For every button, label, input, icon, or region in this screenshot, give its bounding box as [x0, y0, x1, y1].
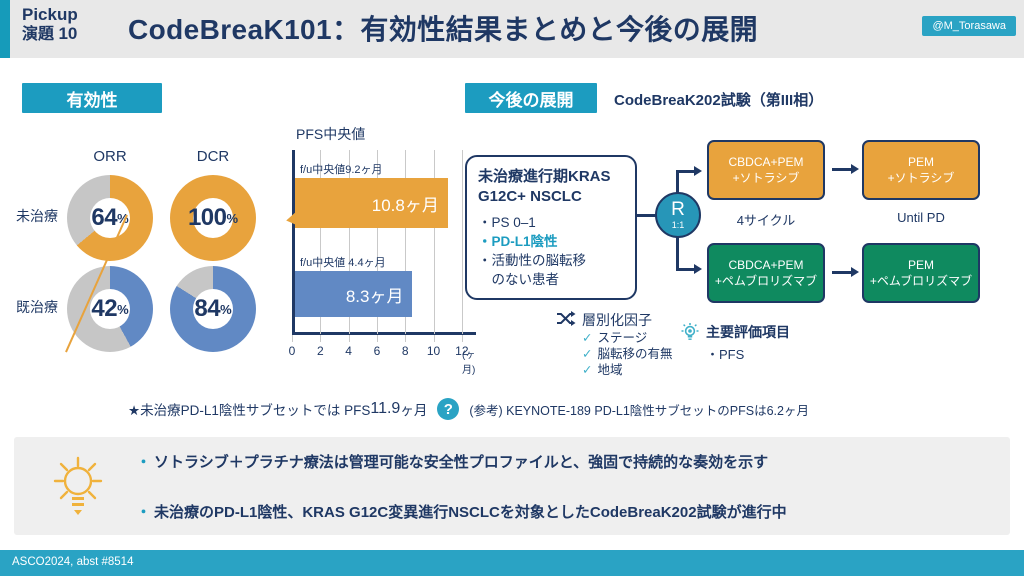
connector-rand-down-h — [676, 268, 694, 271]
pickup-label: Pickup 演題 10 — [22, 5, 114, 44]
tick-mark — [377, 335, 378, 342]
tick-label: 10 — [424, 344, 444, 358]
lightbulb-icon-large — [49, 454, 107, 525]
criteria-item: のない患者 — [478, 270, 626, 289]
check-icon: ✓ — [582, 347, 592, 361]
treatment-line2: +ソトラシブ — [888, 170, 955, 186]
connector-arrow-arm-a1 — [694, 166, 702, 176]
connector-arrow-arm-b2 — [851, 267, 859, 277]
donut-column-header-dcr: DCR — [173, 148, 253, 165]
treatment-box-arm-b2: PEM +ペムブロリズマブ — [862, 243, 980, 303]
section-badge-efficacy: 有効性 — [22, 83, 162, 113]
treatment-line2: +ペムブロリズマブ — [870, 273, 972, 289]
donut-chart-dcr-naive: 100% — [170, 175, 256, 261]
tick-mark — [320, 335, 321, 342]
donut-value-number: 64 — [91, 204, 117, 232]
tick-mark — [349, 335, 350, 342]
conclusion-bullets: ・ソトラシブ＋プラチナ療法は管理可能な安全性プロファイルと、強固で持続的な奏効を… — [136, 453, 787, 522]
donut-value-unit: % — [117, 302, 129, 317]
criteria-title-line2: G12C+ NSCLC — [478, 187, 626, 207]
stratification-item: ✓地域 — [582, 362, 673, 378]
randomization-letter: R — [671, 200, 685, 219]
conclusion-box: ・ソトラシブ＋プラチナ療法は管理可能な安全性プロファイルと、強固で持続的な奏効を… — [14, 437, 1010, 535]
tick-label: 2 — [310, 344, 330, 358]
donut-value-number: 42 — [91, 295, 117, 323]
phase-label-cycles: 4サイクル — [707, 210, 825, 229]
bullet-dot: ・ — [136, 454, 151, 471]
randomization-ratio: 1:1 — [672, 220, 685, 230]
donut-value-unit: % — [220, 302, 232, 317]
pickup-line1: Pickup — [22, 5, 114, 24]
footnote-reference: (参考) KEYNOTE-189 PD-L1陰性サブセットのPFSは6.2ヶ月 — [469, 400, 809, 419]
chart-x-unit-label: (ヶ月) — [462, 346, 475, 376]
tick-mark — [405, 335, 406, 342]
tick-mark — [462, 335, 463, 342]
donut-value: 100% — [170, 175, 256, 261]
connector-rand-up-v — [676, 170, 679, 194]
footer-text: ASCO2024, abst #8514 — [12, 556, 133, 568]
connector-criteria-to-rand — [637, 214, 657, 217]
donut-value-number: 100 — [188, 204, 227, 232]
shuffle-icon — [556, 311, 576, 332]
treatment-line1: PEM — [908, 154, 934, 170]
tick-label: 4 — [339, 344, 359, 358]
treatment-box-arm-b1: CBDCA+PEM +ペムブロリズマブ — [707, 243, 825, 303]
criteria-title: 未治療進行期KRAS G12C+ NSCLC — [478, 167, 626, 206]
tick-mark — [434, 335, 435, 342]
page-title: CodeBreaK101：有効性結果まとめと今後の展開 — [128, 8, 758, 48]
connector-arrow-arm-b1 — [694, 264, 702, 274]
primary-endpoint-block: 主要評価項目 ・PFS — [680, 322, 790, 363]
footnote-star-text: ★未治療PD-L1陰性サブセットでは PFS — [128, 399, 370, 419]
pfs-bar-chart: f/u中央値9.2ヶ月 10.8ヶ月 f/u中央値 4.4ヶ月 8.3ヶ月 02… — [292, 150, 472, 346]
tick-label: 8 — [395, 344, 415, 358]
treatment-line1: CBDCA+PEM — [728, 154, 803, 170]
check-icon: ✓ — [582, 363, 592, 377]
criteria-list: ・PS 0–1 ・PD-L1陰性 ・活動性の脳転移 のない患者 — [478, 213, 626, 290]
endpoint-title: 主要評価項目 — [706, 322, 790, 342]
pfs-bar-naive: 10.8ヶ月 — [295, 178, 448, 228]
stratification-item: ✓ステージ — [582, 330, 673, 346]
donut-value-unit: % — [226, 211, 238, 226]
section-badge-future: 今後の展開 — [465, 83, 597, 113]
header-accent-bar — [0, 0, 10, 58]
trial-name-label: CodeBreaK202試験（第III相） — [614, 89, 823, 110]
conclusion-line-2: ・未治療のPD-L1陰性、KRAS G12C変異進行NSCLCを対象としたCod… — [136, 503, 787, 523]
connector-rand-down-v — [676, 236, 679, 271]
gridline — [462, 150, 463, 334]
pfs-annotation-treated: f/u中央値 4.4ヶ月 — [300, 254, 386, 270]
randomization-node: R 1:1 — [655, 192, 701, 238]
connector-arrow-arm-a2 — [851, 164, 859, 174]
criteria-title-line1: 未治療進行期KRAS — [478, 167, 626, 187]
endpoint-item: ・PFS — [706, 344, 790, 363]
pickup-number: 10 — [58, 24, 77, 43]
donut-column-header-orr: ORR — [70, 148, 150, 165]
tick-label: 6 — [367, 344, 387, 358]
question-icon: ? — [437, 398, 459, 420]
slide-header: Pickup 演題 10 CodeBreaK101：有効性結果まとめと今後の展開… — [0, 0, 1024, 58]
footnote-star-value: 11.9 — [370, 400, 400, 418]
conclusion-line-1: ・ソトラシブ＋プラチナ療法は管理可能な安全性プロファイルと、強固で持続的な奏効を… — [136, 453, 787, 473]
stratification-title: 層別化因子 — [582, 310, 673, 330]
treatment-line2: +ソトラシブ — [733, 170, 800, 186]
donut-value-number: 84 — [194, 295, 220, 323]
donut-value: 84% — [170, 266, 256, 352]
eligibility-criteria-box: 未治療進行期KRAS G12C+ NSCLC ・PS 0–1 ・PD-L1陰性 … — [465, 155, 637, 300]
bullet-dot: ・ — [136, 504, 151, 521]
criteria-item-highlight: ・PD-L1陰性 — [478, 232, 626, 251]
treatment-box-arm-a2: PEM +ソトラシブ — [862, 140, 980, 200]
criteria-item: ・活動性の脳転移 — [478, 251, 626, 270]
check-icon: ✓ — [582, 331, 592, 345]
slide-footer: ASCO2024, abst #8514 — [0, 550, 1024, 576]
connector-rand-up-h — [676, 170, 694, 173]
tick-label: 0 — [282, 344, 302, 358]
treatment-line1: CBDCA+PEM — [728, 257, 803, 273]
lightbulb-icon — [680, 322, 700, 347]
pickup-line2: 演題 10 — [22, 24, 114, 44]
criteria-item: ・PS 0–1 — [478, 213, 626, 232]
donut-chart-orr-treated: 42% — [67, 266, 153, 352]
pfs-chart-title: PFS中央値 — [296, 124, 365, 144]
footnote-star-unit: ヶ月 — [400, 399, 427, 419]
treatment-box-arm-a1: CBDCA+PEM +ソトラシブ — [707, 140, 825, 200]
stratification-block: 層別化因子 ✓ステージ ✓脳転移の有無 ✓地域 — [556, 310, 673, 378]
pfs-bar-treated: 8.3ヶ月 — [295, 271, 412, 317]
pfs-annotation-naive: f/u中央値9.2ヶ月 — [300, 161, 383, 177]
phase-label-until-pd: Until PD — [862, 210, 980, 225]
stratification-item: ✓脳転移の有無 — [582, 346, 673, 362]
author-handle-badge: @M_Torasawa — [922, 16, 1016, 36]
donut-value: 42% — [67, 266, 153, 352]
footnote-row: ★未治療PD-L1陰性サブセットでは PFS 11.9 ヶ月 ? (参考) KE… — [128, 398, 809, 420]
treatment-line1: PEM — [908, 257, 934, 273]
donut-chart-dcr-treated: 84% — [170, 266, 256, 352]
tick-mark — [292, 335, 293, 342]
treatment-line2: +ペムブロリズマブ — [715, 273, 817, 289]
